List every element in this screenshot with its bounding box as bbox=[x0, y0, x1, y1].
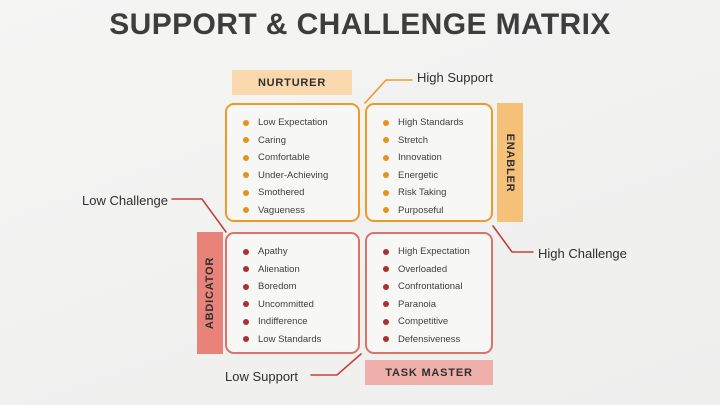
bullet-icon bbox=[243, 284, 249, 290]
leader-line-low-challenge bbox=[172, 199, 226, 232]
list-item-label: Low Standards bbox=[258, 335, 321, 345]
list-item-label: Energetic bbox=[398, 171, 438, 181]
list-item[interactable]: Boredom bbox=[227, 278, 358, 296]
list-item-label: Boredom bbox=[258, 282, 297, 292]
list-item-label: Comfortable bbox=[258, 153, 310, 163]
list-item[interactable]: Comfortable bbox=[227, 149, 358, 167]
list-item[interactable]: Paranoia bbox=[367, 296, 491, 314]
bullet-icon bbox=[243, 155, 249, 161]
bullet-icon bbox=[243, 137, 249, 143]
axis-label-low-support: Low Support bbox=[225, 369, 298, 384]
bullet-icon bbox=[383, 207, 389, 213]
slide-canvas: SUPPORT & CHALLENGE MATRIX NURTURER ENAB… bbox=[0, 0, 720, 405]
page-title: SUPPORT & CHALLENGE MATRIX bbox=[0, 8, 720, 42]
list-item-label: Alienation bbox=[258, 265, 300, 275]
bullet-icon bbox=[243, 319, 249, 325]
list-item[interactable]: Uncommitted bbox=[227, 296, 358, 314]
quadrant-banner-taskmaster[interactable]: TASK MASTER bbox=[365, 360, 493, 385]
list-item[interactable]: Purposeful bbox=[367, 202, 491, 220]
bullet-icon bbox=[383, 190, 389, 196]
list-item-label: Innovation bbox=[398, 153, 442, 163]
axis-label-high-support: High Support bbox=[417, 70, 493, 85]
list-item-label: Risk Taking bbox=[398, 188, 446, 198]
bullet-icon bbox=[383, 319, 389, 325]
bullet-icon bbox=[243, 301, 249, 307]
leader-line-high-support bbox=[365, 80, 412, 103]
list-item-label: Paranoia bbox=[398, 300, 436, 310]
list-item[interactable]: High Expectation bbox=[367, 243, 491, 261]
list-item[interactable]: Stretch bbox=[367, 132, 491, 150]
bullet-icon bbox=[383, 336, 389, 342]
list-item-label: Overloaded bbox=[398, 265, 447, 275]
list-item-label: Defensiveness bbox=[398, 335, 460, 345]
quadrant-banner-label-taskmaster: TASK MASTER bbox=[385, 367, 472, 379]
list-item[interactable]: Caring bbox=[227, 132, 358, 150]
quadrant-banner-abdicator[interactable]: ABDICATOR bbox=[197, 232, 223, 354]
bullet-icon bbox=[243, 249, 249, 255]
bullet-icon bbox=[383, 249, 389, 255]
quadrant-list-abdicator: Apathy Alienation Boredom Uncommitted In… bbox=[227, 234, 358, 348]
list-item[interactable]: Low Standards bbox=[227, 331, 358, 349]
quadrant-list-nurturer: Low Expectation Caring Comfortable Under… bbox=[227, 105, 358, 219]
leader-line-low-support bbox=[311, 354, 361, 375]
list-item[interactable]: Competitive bbox=[367, 313, 491, 331]
bullet-icon bbox=[383, 120, 389, 126]
bullet-icon bbox=[243, 207, 249, 213]
list-item[interactable]: Confrontational bbox=[367, 278, 491, 296]
bullet-icon bbox=[383, 301, 389, 307]
list-item-label: Purposeful bbox=[398, 206, 443, 216]
quadrant-box-enabler[interactable]: High Standards Stretch Innovation Energe… bbox=[365, 103, 493, 222]
list-item-label: Indifference bbox=[258, 317, 307, 327]
list-item-label: Apathy bbox=[258, 247, 288, 257]
list-item-label: Low Expectation bbox=[258, 118, 328, 128]
list-item-label: Stretch bbox=[398, 136, 428, 146]
axis-label-high-challenge: High Challenge bbox=[538, 246, 627, 261]
list-item[interactable]: Under-Achieving bbox=[227, 167, 358, 185]
list-item[interactable]: Indifference bbox=[227, 313, 358, 331]
list-item[interactable]: Vagueness bbox=[227, 202, 358, 220]
list-item-label: Smothered bbox=[258, 188, 304, 198]
list-item-label: Confrontational bbox=[398, 282, 462, 292]
list-item[interactable]: Defensiveness bbox=[367, 331, 491, 349]
list-item[interactable]: Energetic bbox=[367, 167, 491, 185]
quadrant-list-taskmaster: High Expectation Overloaded Confrontatio… bbox=[367, 234, 491, 348]
quadrant-banner-label-enabler: ENABLER bbox=[504, 133, 516, 192]
bullet-icon bbox=[383, 284, 389, 290]
list-item[interactable]: Low Expectation bbox=[227, 114, 358, 132]
list-item-label: High Expectation bbox=[398, 247, 470, 257]
bullet-icon bbox=[383, 172, 389, 178]
list-item[interactable]: Innovation bbox=[367, 149, 491, 167]
list-item-label: Competitive bbox=[398, 317, 448, 327]
quadrant-banner-label-nurturer: NURTURER bbox=[258, 77, 326, 89]
list-item[interactable]: Overloaded bbox=[367, 261, 491, 279]
axis-label-low-challenge: Low Challenge bbox=[82, 193, 168, 208]
bullet-icon bbox=[243, 336, 249, 342]
list-item-label: Vagueness bbox=[258, 206, 305, 216]
leader-line-high-challenge bbox=[493, 226, 533, 252]
list-item-label: High Standards bbox=[398, 118, 463, 128]
list-item[interactable]: Alienation bbox=[227, 261, 358, 279]
list-item[interactable]: Smothered bbox=[227, 184, 358, 202]
list-item[interactable]: Risk Taking bbox=[367, 184, 491, 202]
quadrant-box-nurturer[interactable]: Low Expectation Caring Comfortable Under… bbox=[225, 103, 360, 222]
list-item[interactable]: Apathy bbox=[227, 243, 358, 261]
bullet-icon bbox=[383, 266, 389, 272]
bullet-icon bbox=[243, 190, 249, 196]
quadrant-box-taskmaster[interactable]: High Expectation Overloaded Confrontatio… bbox=[365, 232, 493, 354]
bullet-icon bbox=[243, 120, 249, 126]
list-item-label: Under-Achieving bbox=[258, 171, 328, 181]
quadrant-box-abdicator[interactable]: Apathy Alienation Boredom Uncommitted In… bbox=[225, 232, 360, 354]
quadrant-banner-label-abdicator: ABDICATOR bbox=[204, 257, 216, 329]
bullet-icon bbox=[243, 172, 249, 178]
list-item[interactable]: High Standards bbox=[367, 114, 491, 132]
list-item-label: Uncommitted bbox=[258, 300, 314, 310]
bullet-icon bbox=[383, 155, 389, 161]
quadrant-list-enabler: High Standards Stretch Innovation Energe… bbox=[367, 105, 491, 219]
quadrant-banner-enabler[interactable]: ENABLER bbox=[497, 103, 523, 222]
quadrant-banner-nurturer[interactable]: NURTURER bbox=[232, 70, 352, 95]
list-item-label: Caring bbox=[258, 136, 286, 146]
bullet-icon bbox=[383, 137, 389, 143]
bullet-icon bbox=[243, 266, 249, 272]
